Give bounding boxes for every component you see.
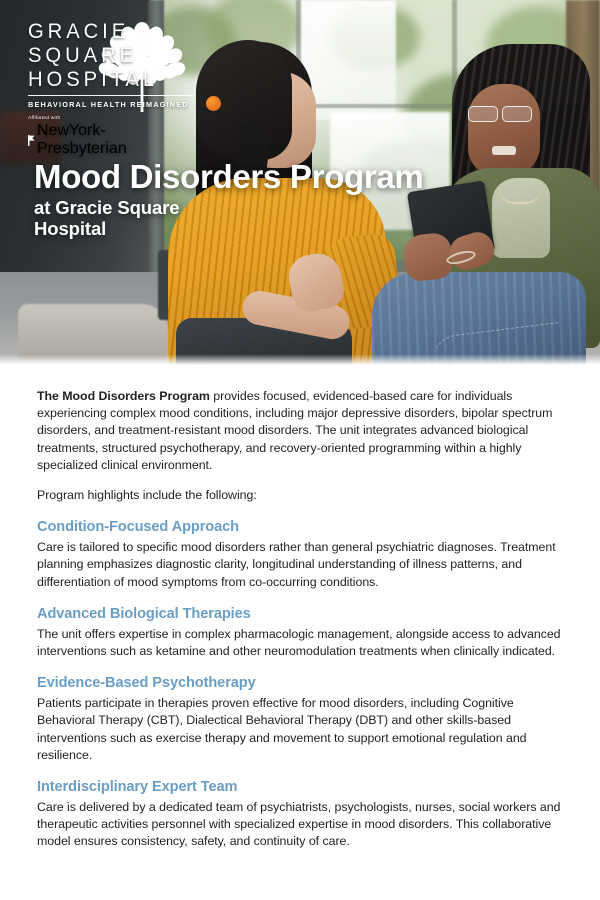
section-title: Interdisciplinary Expert Team — [37, 778, 564, 796]
section-body: Care is tailored to specific mood disord… — [37, 539, 564, 591]
logo-wordmark: GRACIE SQUARE HOSPITAL — [28, 20, 193, 91]
logo-line-3: HOSPITAL — [28, 68, 183, 91]
eyeglasses-icon — [468, 106, 544, 122]
logo-line-1: GRACIE — [28, 20, 183, 43]
program-section: Evidence-Based Psychotherapy Patients pa… — [37, 674, 564, 764]
program-section: Advanced Biological Therapies The unit o… — [37, 605, 564, 660]
affiliation-name: NewYork-Presbyterian — [37, 122, 193, 158]
chair-seat-left — [18, 304, 168, 360]
hero-title-block: Mood Disorders Program at Gracie Square … — [34, 160, 423, 239]
subject-right-hand — [402, 232, 455, 283]
hospital-logo: GRACIE SQUARE HOSPITAL BEHAVIORAL HEALTH… — [28, 20, 193, 158]
window-mullion — [300, 104, 460, 108]
logo-line-2: SQUARE — [28, 44, 183, 67]
page-title: Mood Disorders Program — [34, 160, 423, 194]
nyp-flag-mark-icon — [28, 135, 35, 146]
subject-right-smile — [492, 146, 516, 155]
section-title: Advanced Biological Therapies — [37, 605, 564, 623]
logo-tagline: BEHAVIORAL HEALTH REIMAGINED — [28, 100, 186, 109]
intro-paragraph: The Mood Disorders Program provides focu… — [37, 388, 564, 474]
section-body: Care is delivered by a dedicated team of… — [37, 799, 564, 851]
section-title: Evidence-Based Psychotherapy — [37, 674, 564, 692]
intro-lead-in: The Mood Disorders Program — [37, 389, 210, 403]
affiliation-lockup: NewYork-Presbyterian — [28, 122, 193, 158]
section-body: Patients participate in therapies proven… — [37, 695, 564, 764]
hero-section: GRACIE SQUARE HOSPITAL BEHAVIORAL HEALTH… — [0, 0, 600, 368]
affiliation-label: Affiliated with — [28, 116, 193, 121]
subject-right-face — [468, 84, 540, 176]
program-section: Interdisciplinary Expert Team Care is de… — [37, 778, 564, 851]
brochure-page: GRACIE SQUARE HOSPITAL BEHAVIORAL HEALTH… — [0, 0, 600, 900]
photo-bottom-fade — [0, 354, 600, 368]
page-subtitle: at Gracie Square Hospital — [34, 197, 184, 239]
section-body: The unit offers expertise in complex pha… — [37, 626, 564, 660]
program-section: Condition-Focused Approach Care is tailo… — [37, 518, 564, 591]
subject-left-hair-clip — [206, 96, 221, 111]
highlights-lead: Program highlights include the following… — [37, 487, 564, 504]
logo-divider — [28, 95, 193, 96]
body-content: The Mood Disorders Program provides focu… — [0, 368, 600, 851]
section-title: Condition-Focused Approach — [37, 518, 564, 536]
